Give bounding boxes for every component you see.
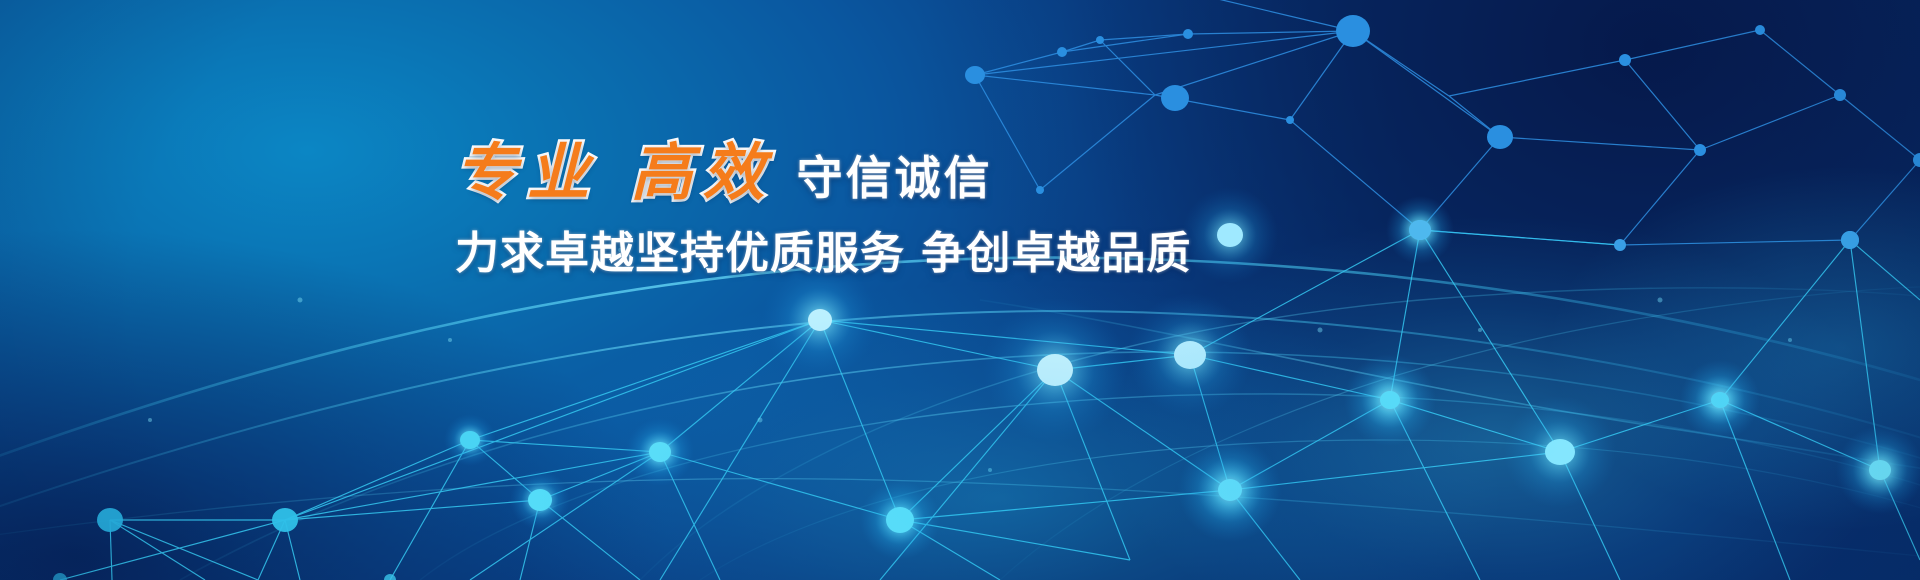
headline-accent-text: 专业 高效 xyxy=(455,140,775,205)
headline-secondary-text: 守信诚信 xyxy=(797,154,993,202)
slogan-text-block: 专业 高效 守信诚信 力求卓越坚持优质服务 争创卓越品质 xyxy=(455,140,1215,281)
promotional-banner: 专业 高效 守信诚信 力求卓越坚持优质服务 争创卓越品质 xyxy=(0,0,1920,580)
headline-row: 专业 高效 守信诚信 xyxy=(455,140,1215,205)
slogan-subline: 力求卓越坚持优质服务 争创卓越品质 xyxy=(455,217,1215,281)
background-vignette xyxy=(0,0,1920,580)
